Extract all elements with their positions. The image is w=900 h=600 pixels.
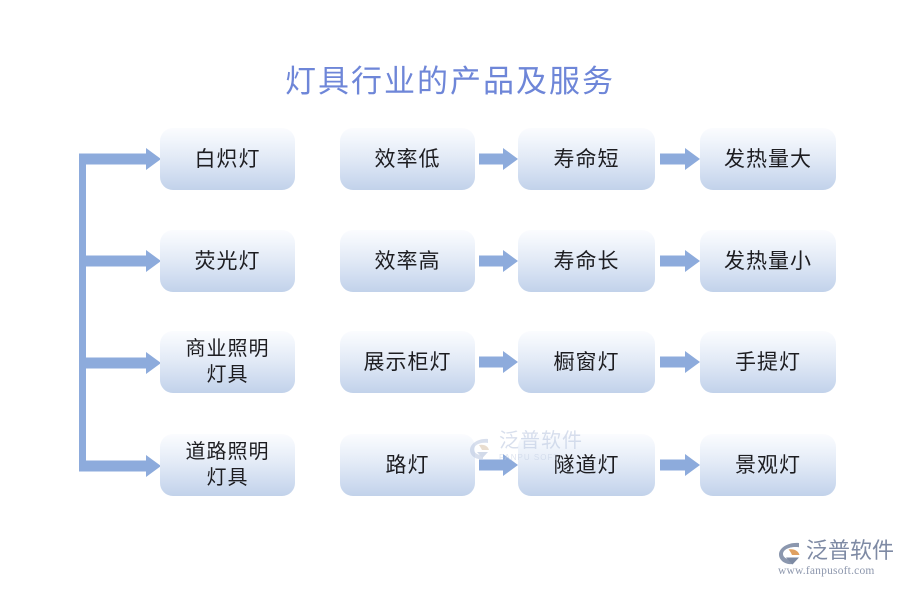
node-row-commercial-lighting-product-window[interactable]: 橱窗灯 bbox=[518, 331, 655, 393]
arrow-trunk-to-row3 bbox=[79, 352, 161, 374]
node-row-road-lighting-product-tunnel-lamp[interactable]: 隧道灯 bbox=[518, 434, 655, 496]
arrow-head bbox=[503, 148, 518, 170]
arrow-head bbox=[685, 351, 700, 373]
brand-url: www.fanpusoft.com bbox=[778, 564, 875, 578]
arrow-shaft bbox=[660, 154, 685, 165]
arrow-head bbox=[503, 351, 518, 373]
node-row-road-lighting-category[interactable]: 道路照明 灯具 bbox=[160, 434, 295, 496]
node-row-fluorescent-category[interactable]: 荧光灯 bbox=[160, 230, 295, 292]
node-row-incandescent-attribute-lifespan[interactable]: 寿命短 bbox=[518, 128, 655, 190]
node-row-commercial-lighting-product-display-case[interactable]: 展示柜灯 bbox=[340, 331, 475, 393]
node-row-incandescent-attribute-heat[interactable]: 发热量大 bbox=[700, 128, 836, 190]
node-row-road-lighting-product-landscape-lamp[interactable]: 景观灯 bbox=[700, 434, 836, 496]
node-label: 手提灯 bbox=[735, 349, 801, 376]
node-label: 展示柜灯 bbox=[364, 349, 452, 376]
arrow-shaft bbox=[479, 256, 503, 267]
node-label: 寿命长 bbox=[554, 248, 620, 275]
arrow-shaft bbox=[79, 358, 146, 369]
arrow-shaft bbox=[660, 357, 685, 368]
arrow-shaft bbox=[479, 460, 503, 471]
node-label-line2: 灯具 bbox=[207, 362, 249, 388]
node-label: 路灯 bbox=[386, 452, 430, 479]
arrow-shaft bbox=[479, 154, 503, 165]
brand-logo: 泛普软件 www.fanpusoft.com bbox=[776, 538, 894, 582]
arrow-trunk-to-row1 bbox=[79, 148, 161, 170]
arrow-row3-col2-to-col3 bbox=[479, 351, 518, 373]
node-label: 白炽灯 bbox=[195, 146, 261, 173]
node-label-line1: 道路照明 bbox=[186, 439, 270, 465]
arrow-row2-col3-to-col4 bbox=[660, 250, 700, 272]
node-label-line1: 商业照明 bbox=[186, 336, 270, 362]
page-title: 灯具行业的产品及服务 bbox=[0, 62, 900, 102]
arrow-row1-col3-to-col4 bbox=[660, 148, 700, 170]
arrow-row4-col2-to-col3 bbox=[479, 454, 518, 476]
arrow-head bbox=[503, 250, 518, 272]
brand-name: 泛普软件 bbox=[806, 538, 894, 564]
node-row-incandescent-attribute-efficiency[interactable]: 效率低 bbox=[340, 128, 475, 190]
arrow-shaft bbox=[79, 154, 146, 165]
arrow-shaft bbox=[79, 256, 146, 267]
arrow-trunk-to-row4 bbox=[79, 455, 161, 477]
arrow-head bbox=[685, 250, 700, 272]
arrow-head bbox=[503, 454, 518, 476]
arrow-head bbox=[685, 454, 700, 476]
arrow-head bbox=[146, 352, 161, 374]
node-row-commercial-lighting-category[interactable]: 商业照明 灯具 bbox=[160, 331, 295, 393]
arrow-row2-col2-to-col3 bbox=[479, 250, 518, 272]
arrow-shaft bbox=[660, 460, 685, 471]
arrow-shaft bbox=[79, 461, 146, 472]
node-label: 发热量小 bbox=[724, 248, 812, 275]
bracket-trunk bbox=[79, 159, 86, 465]
arrow-row4-col3-to-col4 bbox=[660, 454, 700, 476]
node-label: 寿命短 bbox=[554, 146, 620, 173]
arrow-row3-col3-to-col4 bbox=[660, 351, 700, 373]
node-row-fluorescent-attribute-efficiency[interactable]: 效率高 bbox=[340, 230, 475, 292]
arrow-row1-col2-to-col3 bbox=[479, 148, 518, 170]
arrow-head bbox=[685, 148, 700, 170]
arrow-head bbox=[146, 455, 161, 477]
node-row-fluorescent-attribute-lifespan[interactable]: 寿命长 bbox=[518, 230, 655, 292]
node-row-commercial-lighting-product-portable[interactable]: 手提灯 bbox=[700, 331, 836, 393]
arrow-head bbox=[146, 250, 161, 272]
node-label: 效率低 bbox=[375, 146, 441, 173]
node-label: 效率高 bbox=[375, 248, 441, 275]
node-label-line2: 灯具 bbox=[207, 465, 249, 491]
node-row-fluorescent-attribute-heat[interactable]: 发热量小 bbox=[700, 230, 836, 292]
diagram-canvas: 灯具行业的产品及服务 白炽灯 效率低 寿命短 发热量大 荧光灯 效率高 bbox=[0, 0, 900, 600]
node-label: 发热量大 bbox=[724, 146, 812, 173]
node-label: 景观灯 bbox=[735, 452, 801, 479]
node-label: 橱窗灯 bbox=[554, 349, 620, 376]
arrow-shaft bbox=[479, 357, 503, 368]
arrow-shaft bbox=[660, 256, 685, 267]
arrow-trunk-to-row2 bbox=[79, 250, 161, 272]
node-row-incandescent-category[interactable]: 白炽灯 bbox=[160, 128, 295, 190]
node-label: 荧光灯 bbox=[195, 248, 261, 275]
node-row-road-lighting-product-street-lamp[interactable]: 路灯 bbox=[340, 434, 475, 496]
node-label: 隧道灯 bbox=[554, 452, 620, 479]
arrow-head bbox=[146, 148, 161, 170]
